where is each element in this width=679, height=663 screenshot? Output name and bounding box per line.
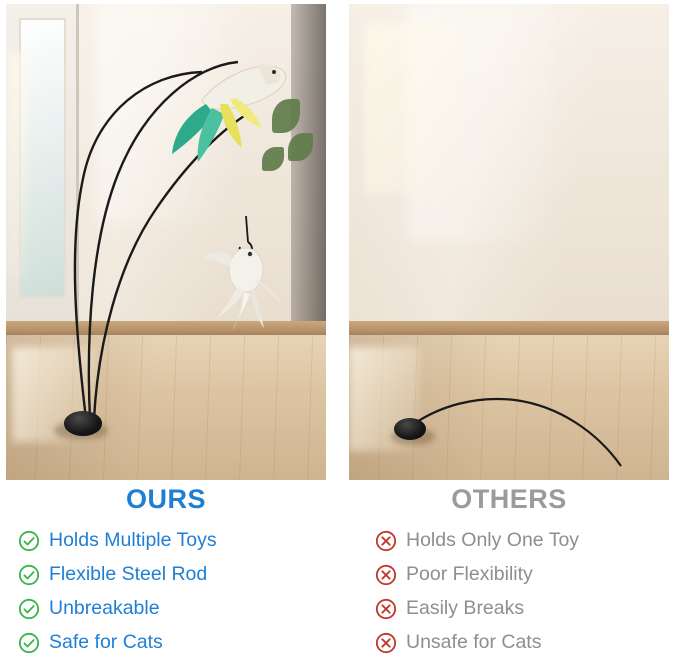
cross-circle-icon	[375, 564, 397, 586]
cross-circle-icon	[375, 598, 397, 620]
ours-label: OURS	[6, 484, 326, 515]
list-item: Flexible Steel Rod	[18, 558, 348, 592]
list-item: Holds Multiple Toys	[18, 524, 348, 558]
list-item-label: Unsafe for Cats	[406, 633, 541, 653]
list-item: Holds Only One Toy	[375, 524, 679, 558]
list-item-label: Unbreakable	[49, 599, 160, 619]
others-photo-panel	[349, 4, 669, 480]
others-feature-list: Holds Only One Toy Poor Flexibility Easi…	[375, 524, 679, 660]
limp-rod	[407, 399, 621, 466]
check-circle-icon	[18, 598, 40, 620]
list-item: Safe for Cats	[18, 626, 348, 660]
check-circle-icon	[18, 632, 40, 654]
suction-cup-base	[64, 411, 102, 436]
cross-circle-icon	[375, 530, 397, 552]
list-item-label: Easily Breaks	[406, 599, 524, 619]
comparison-labels: OURS OTHERS	[0, 484, 679, 524]
list-item: Unbreakable	[18, 592, 348, 626]
list-item-label: Safe for Cats	[49, 633, 163, 653]
feature-lists: Holds Multiple Toys Flexible Steel Rod U…	[0, 524, 679, 663]
green-feather-bird-toy	[172, 64, 286, 162]
list-item: Unsafe for Cats	[375, 626, 679, 660]
steel-rod	[94, 116, 244, 419]
list-item-label: Holds Only One Toy	[406, 531, 579, 551]
cross-circle-icon	[375, 632, 397, 654]
list-item-label: Poor Flexibility	[406, 565, 533, 585]
steel-rod	[75, 72, 202, 419]
photo-panels	[0, 0, 679, 480]
toy-string	[246, 216, 248, 242]
list-item-label: Flexible Steel Rod	[49, 565, 207, 585]
ours-feature-list: Holds Multiple Toys Flexible Steel Rod U…	[18, 524, 348, 660]
check-circle-icon	[18, 530, 40, 552]
product-comparison-image: OURS OTHERS Holds Multiple Toys Flexible…	[0, 0, 679, 663]
others-label: OTHERS	[349, 484, 669, 515]
suction-cup-base	[394, 418, 426, 440]
white-feather-toy	[204, 248, 282, 330]
competitor-teaser-rod	[349, 4, 669, 480]
list-item: Easily Breaks	[375, 592, 679, 626]
cat-teaser-stand	[6, 4, 326, 480]
list-item-label: Holds Multiple Toys	[49, 531, 217, 551]
ours-photo-panel	[6, 4, 326, 480]
check-circle-icon	[18, 564, 40, 586]
list-item: Poor Flexibility	[375, 558, 679, 592]
